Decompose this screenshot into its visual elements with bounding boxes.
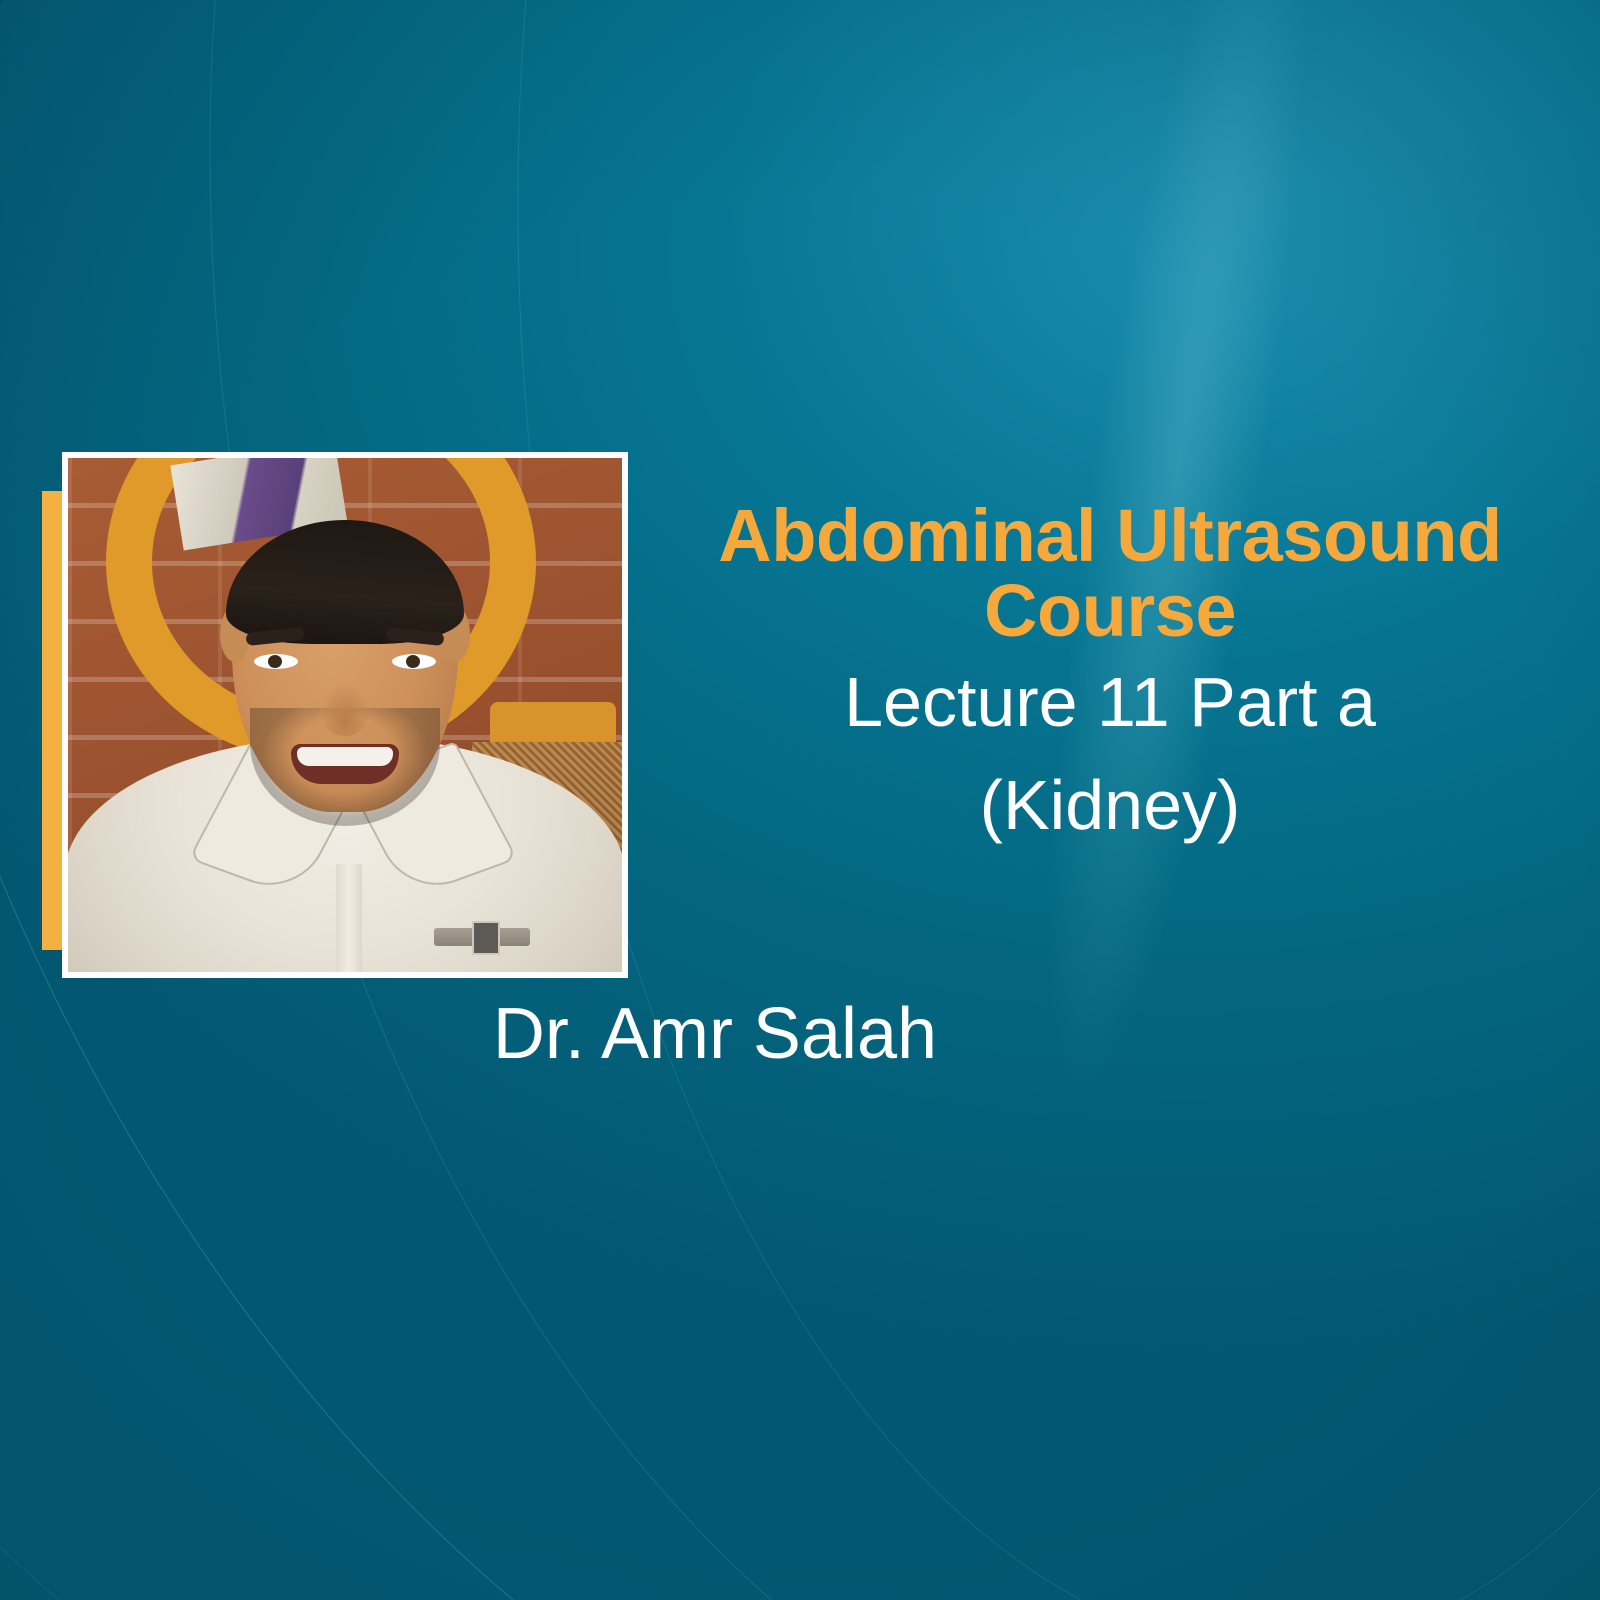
title-slide: Abdominal Ultrasound Course Lecture 11 P… [0, 0, 1600, 1600]
lecture-topic: (Kidney) [640, 756, 1580, 855]
photo-teeth [297, 747, 393, 766]
course-title: Abdominal Ultrasound Course [640, 498, 1580, 649]
portrait-photo [68, 458, 622, 972]
photo-eye-right [392, 654, 436, 669]
photo-nose [320, 684, 370, 736]
title-block: Abdominal Ultrasound Course Lecture 11 P… [640, 498, 1580, 856]
photo-pen-badge [434, 928, 530, 946]
lecture-title: Lecture 11 Part a [640, 653, 1580, 752]
photo-mouth [291, 744, 399, 784]
photo-eye-left [254, 654, 298, 669]
presenter-name: Dr. Amr Salah [280, 993, 1150, 1075]
photo-shirt-placket [336, 864, 362, 972]
portrait-photo-frame [62, 452, 628, 978]
